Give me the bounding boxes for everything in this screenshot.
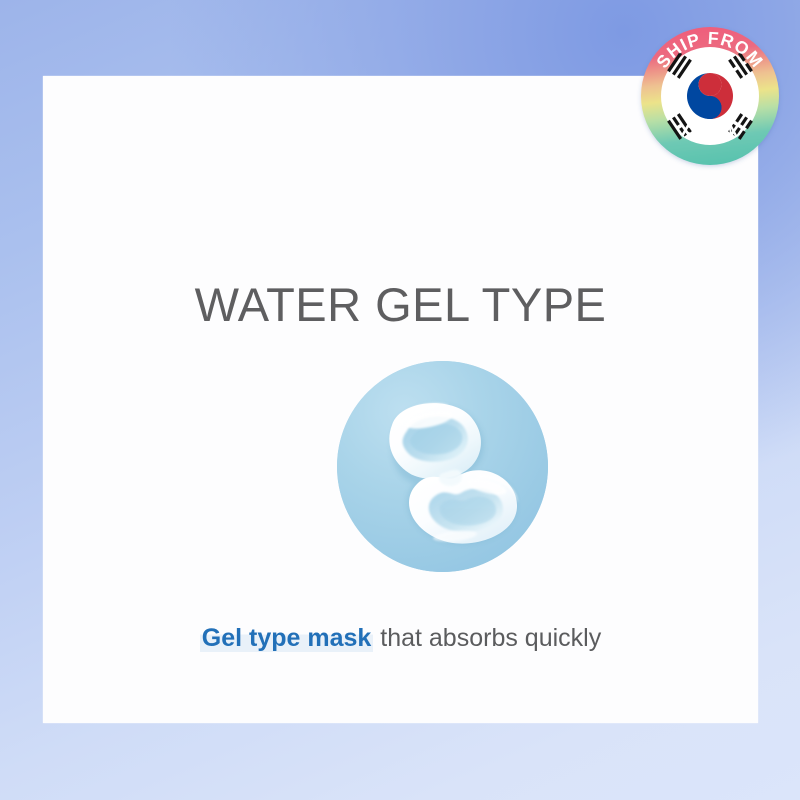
product-card: WATER GEL TYPE <box>43 76 758 723</box>
ship-from-badge: SHIP FROM PRISM <box>634 20 786 172</box>
caption: Gel type mask that absorbs quickly <box>43 622 758 655</box>
page-title: WATER GEL TYPE <box>43 280 758 329</box>
caption-highlight: Gel type mask <box>200 624 374 652</box>
product-detail-banner: WATER GEL TYPE <box>0 0 800 800</box>
gel-texture-photo <box>337 361 548 572</box>
caption-rest: that absorbs quickly <box>373 624 601 652</box>
